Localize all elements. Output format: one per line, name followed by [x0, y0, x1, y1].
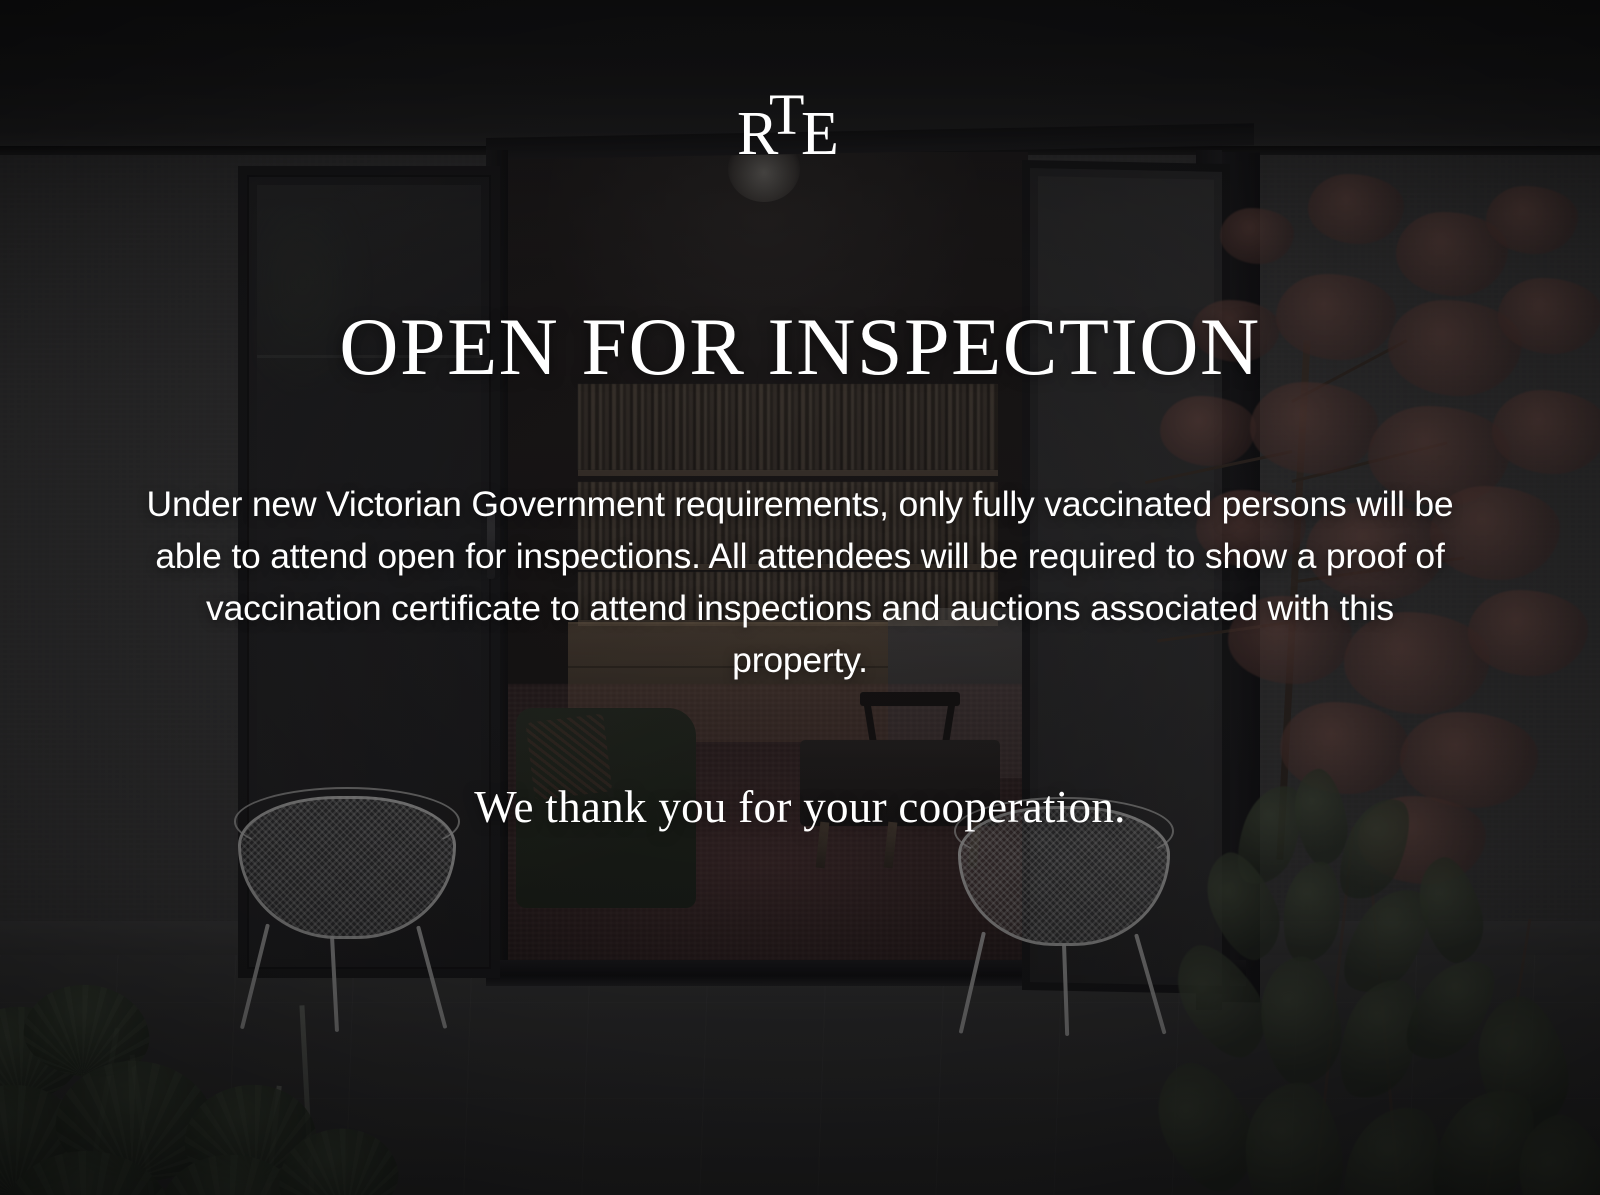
- page-title: OPEN FOR INSPECTION: [100, 306, 1500, 388]
- vaccination-notice-text: Under new Victorian Government requireme…: [135, 478, 1465, 686]
- rte-monogram-logo: R T E: [725, 88, 875, 164]
- inspection-notice-slide: R T E OPEN FOR INSPECTION Under new Vict…: [0, 0, 1600, 1195]
- notice-content: R T E OPEN FOR INSPECTION Under new Vict…: [0, 0, 1600, 1195]
- thank-you-message: We thank you for your cooperation.: [474, 780, 1125, 834]
- logo-letter-e-glyph: E: [801, 100, 839, 164]
- logo-letter-t-glyph: T: [769, 88, 804, 147]
